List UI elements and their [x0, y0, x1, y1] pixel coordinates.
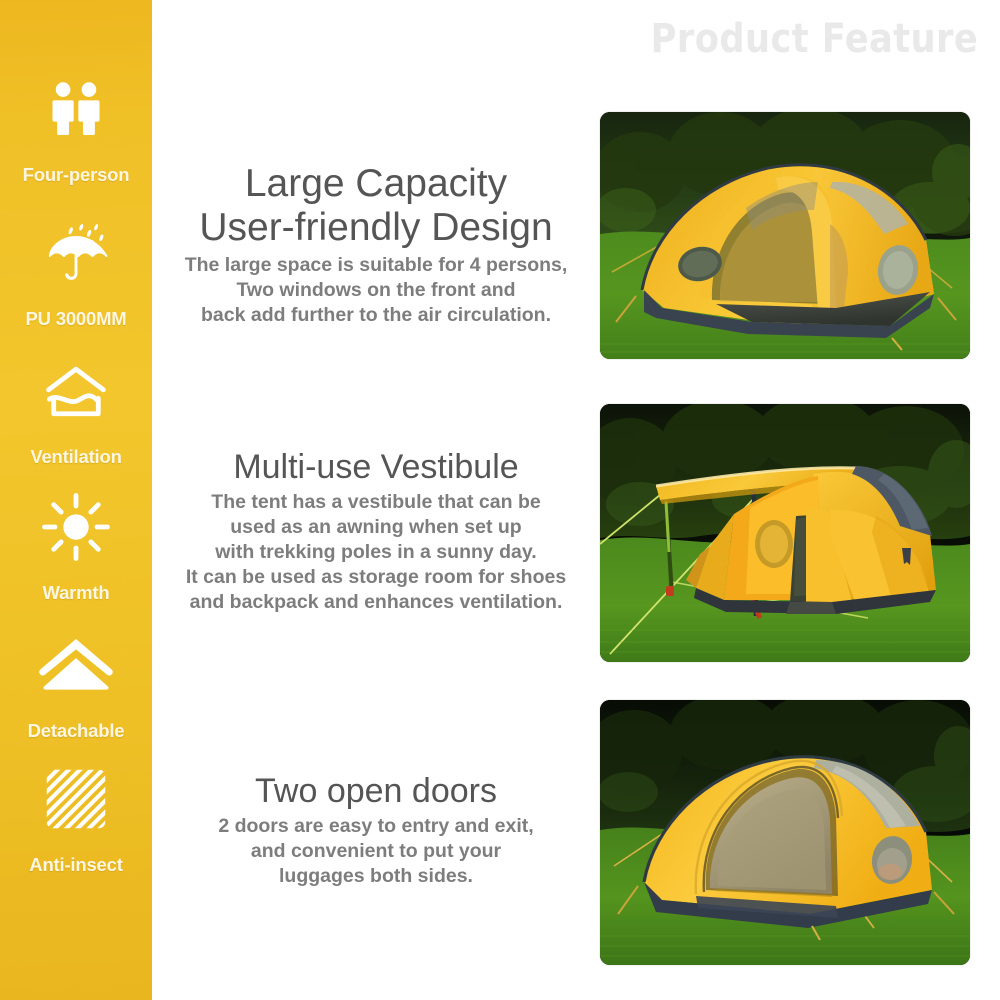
feature-text-two-open-doors: Two open doors 2 doors are easy to entry…	[150, 772, 602, 889]
product-photo-two-open-doors	[600, 700, 970, 965]
feature-heading: Multi-use Vestibule	[150, 448, 602, 486]
sidebar-item-pu-3000mm[interactable]: PU 3000MM	[0, 214, 152, 330]
sidebar-item-label: Warmth	[43, 582, 110, 604]
feature-body: The tent has a vestibule that can be use…	[150, 490, 602, 615]
feature-heading: Two open doors	[150, 772, 602, 810]
mesh-screen-icon	[28, 760, 124, 838]
feature-text-multi-use-vestibule: Multi-use Vestibule The tent has a vesti…	[150, 448, 602, 615]
sidebar-item-label: Four-person	[23, 164, 130, 186]
sun-icon	[28, 488, 124, 566]
sidebar-item-label: Ventilation	[30, 446, 121, 468]
sidebar-item-four-person[interactable]: Four-person	[0, 70, 152, 186]
feature-text-large-capacity: Large Capacity User-friendly Design The …	[150, 162, 602, 328]
sidebar-item-ventilation[interactable]: Ventilation	[0, 352, 152, 468]
house-airflow-icon	[28, 352, 124, 430]
feature-body: The large space is suitable for 4 person…	[150, 253, 602, 328]
product-photo-multi-use-vestibule	[600, 404, 970, 662]
page-title: Product Feature	[650, 16, 978, 62]
feature-heading: Large Capacity User-friendly Design	[150, 162, 602, 249]
sidebar-item-anti-insect[interactable]: Anti-insect	[0, 760, 152, 876]
sidebar-item-warmth[interactable]: Warmth	[0, 488, 152, 604]
sidebar-item-label: PU 3000MM	[25, 308, 126, 330]
two-people-icon	[28, 70, 124, 148]
sidebar-item-detachable[interactable]: Detachable	[0, 626, 152, 742]
umbrella-rain-icon	[28, 214, 124, 292]
chevron-roof-icon	[28, 626, 124, 704]
feature-sidebar: Four-person PU 3000MM	[0, 0, 152, 1000]
feature-body: 2 doors are easy to entry and exit, and …	[150, 814, 602, 889]
sidebar-item-label: Anti-insect	[29, 854, 122, 876]
sidebar-item-label: Detachable	[28, 720, 125, 742]
product-photo-large-capacity	[600, 112, 970, 359]
